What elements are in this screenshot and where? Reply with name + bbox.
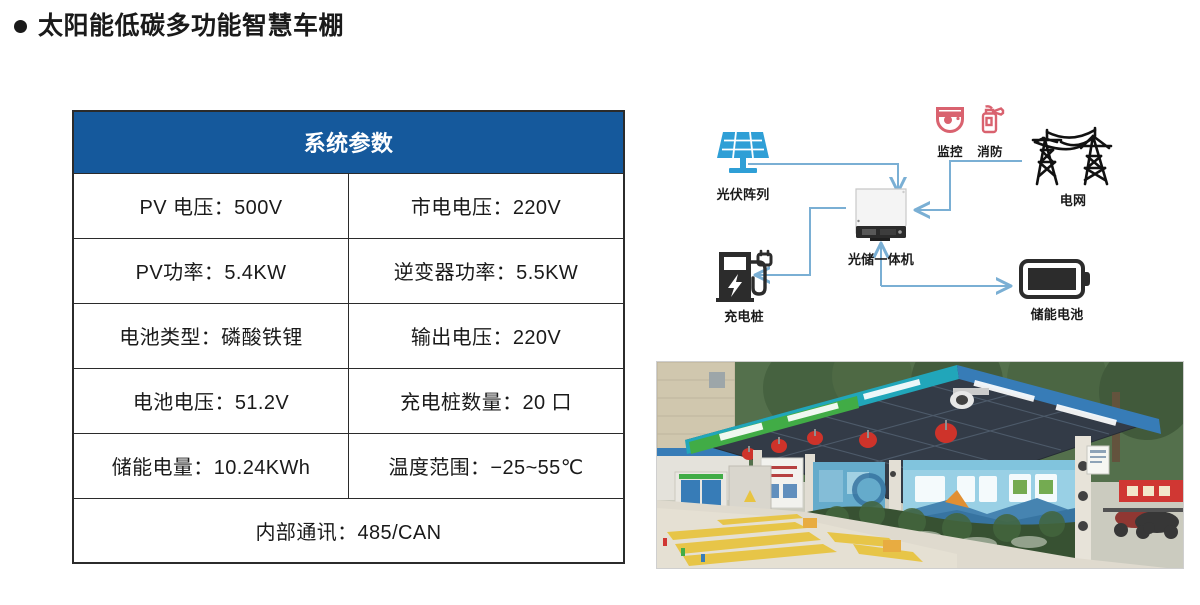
fire-extinguisher-icon <box>975 104 1005 134</box>
inverter-cabinet-icon <box>841 185 921 247</box>
table-row: 电池电压：51.2V 充电桩数量：20 口 <box>73 368 624 433</box>
diagram-node-pv-array: 光伏阵列 <box>688 128 798 203</box>
cell-inverter-power: 逆变器功率：5.5KW <box>349 238 625 303</box>
diagram-node-fire-protection: 消防 <box>975 104 1005 160</box>
carport-photo <box>656 361 1184 569</box>
table-row: PV功率：5.4KW 逆变器功率：5.5KW <box>73 238 624 303</box>
diagram-label-charger: 充电桩 <box>694 306 794 325</box>
cell-pv-voltage: PV 电压：500V <box>73 173 349 238</box>
diagram-node-charger: 充电桩 <box>694 248 794 325</box>
cell-battery-type: 电池类型：磷酸铁锂 <box>73 303 349 368</box>
diagram-node-surveillance: 监控 <box>933 106 967 160</box>
cell-charger-count: 充电桩数量：20 口 <box>349 368 625 433</box>
cell-battery-voltage: 电池电压：51.2V <box>73 368 349 433</box>
power-tower-icon <box>1018 126 1128 188</box>
diagram-label-battery: 储能电池 <box>1002 304 1112 323</box>
diagram-safety-group: 监控 消防 <box>933 104 1005 160</box>
cell-internal-communication: 内部通讯：485/CAN <box>73 498 624 563</box>
cctv-dome-camera-icon <box>933 106 967 134</box>
flow-grid-to-inverter <box>916 161 1022 210</box>
diagram-node-grid: 电网 <box>1018 126 1128 209</box>
cell-pv-power: PV功率：5.4KW <box>73 238 349 303</box>
bullet-icon <box>14 20 27 33</box>
system-parameters-table: 系统参数 PV 电压：500V 市电电压：220V PV功率：5.4KW 逆变器… <box>72 110 625 564</box>
carport-photo-illustration <box>657 362 1184 569</box>
table-row: PV 电压：500V 市电电压：220V <box>73 173 624 238</box>
table-header-title: 系统参数 <box>73 111 624 173</box>
table-header-row: 系统参数 <box>73 111 624 173</box>
diagram-node-inverter: 光储一体机 <box>841 185 921 268</box>
diagram-node-battery: 储能电池 <box>1002 256 1112 323</box>
ev-charging-pile-icon <box>694 248 794 304</box>
cell-storage-capacity: 储能电量：10.24KWh <box>73 433 349 498</box>
slide-page: 太阳能低碳多功能智慧车棚 系统参数 PV 电压：500V 市电电压：220V P… <box>0 0 1200 605</box>
diagram-label-inverter: 光储一体机 <box>841 249 921 268</box>
table-row: 储能电量：10.24KWh 温度范围：−25~55℃ <box>73 433 624 498</box>
diagram-label-pv-array: 光伏阵列 <box>688 184 798 203</box>
system-flow-diagram: 光伏阵列 监控 <box>650 96 1190 346</box>
table-row: 电池类型：磷酸铁锂 输出电压：220V <box>73 303 624 368</box>
diagram-label-fire-protection: 消防 <box>975 141 1005 160</box>
battery-icon <box>1002 256 1112 302</box>
page-title-text: 太阳能低碳多功能智慧车棚 <box>38 14 344 39</box>
cell-mains-voltage: 市电电压：220V <box>349 173 625 238</box>
solar-panel-icon <box>688 128 798 182</box>
cell-output-voltage: 输出电压：220V <box>349 303 625 368</box>
diagram-label-grid: 电网 <box>1018 190 1128 209</box>
cell-temperature-range: 温度范围：−25~55℃ <box>349 433 625 498</box>
diagram-label-surveillance: 监控 <box>933 141 967 160</box>
table-row: 内部通讯：485/CAN <box>73 498 624 563</box>
page-title: 太阳能低碳多功能智慧车棚 <box>14 14 344 39</box>
